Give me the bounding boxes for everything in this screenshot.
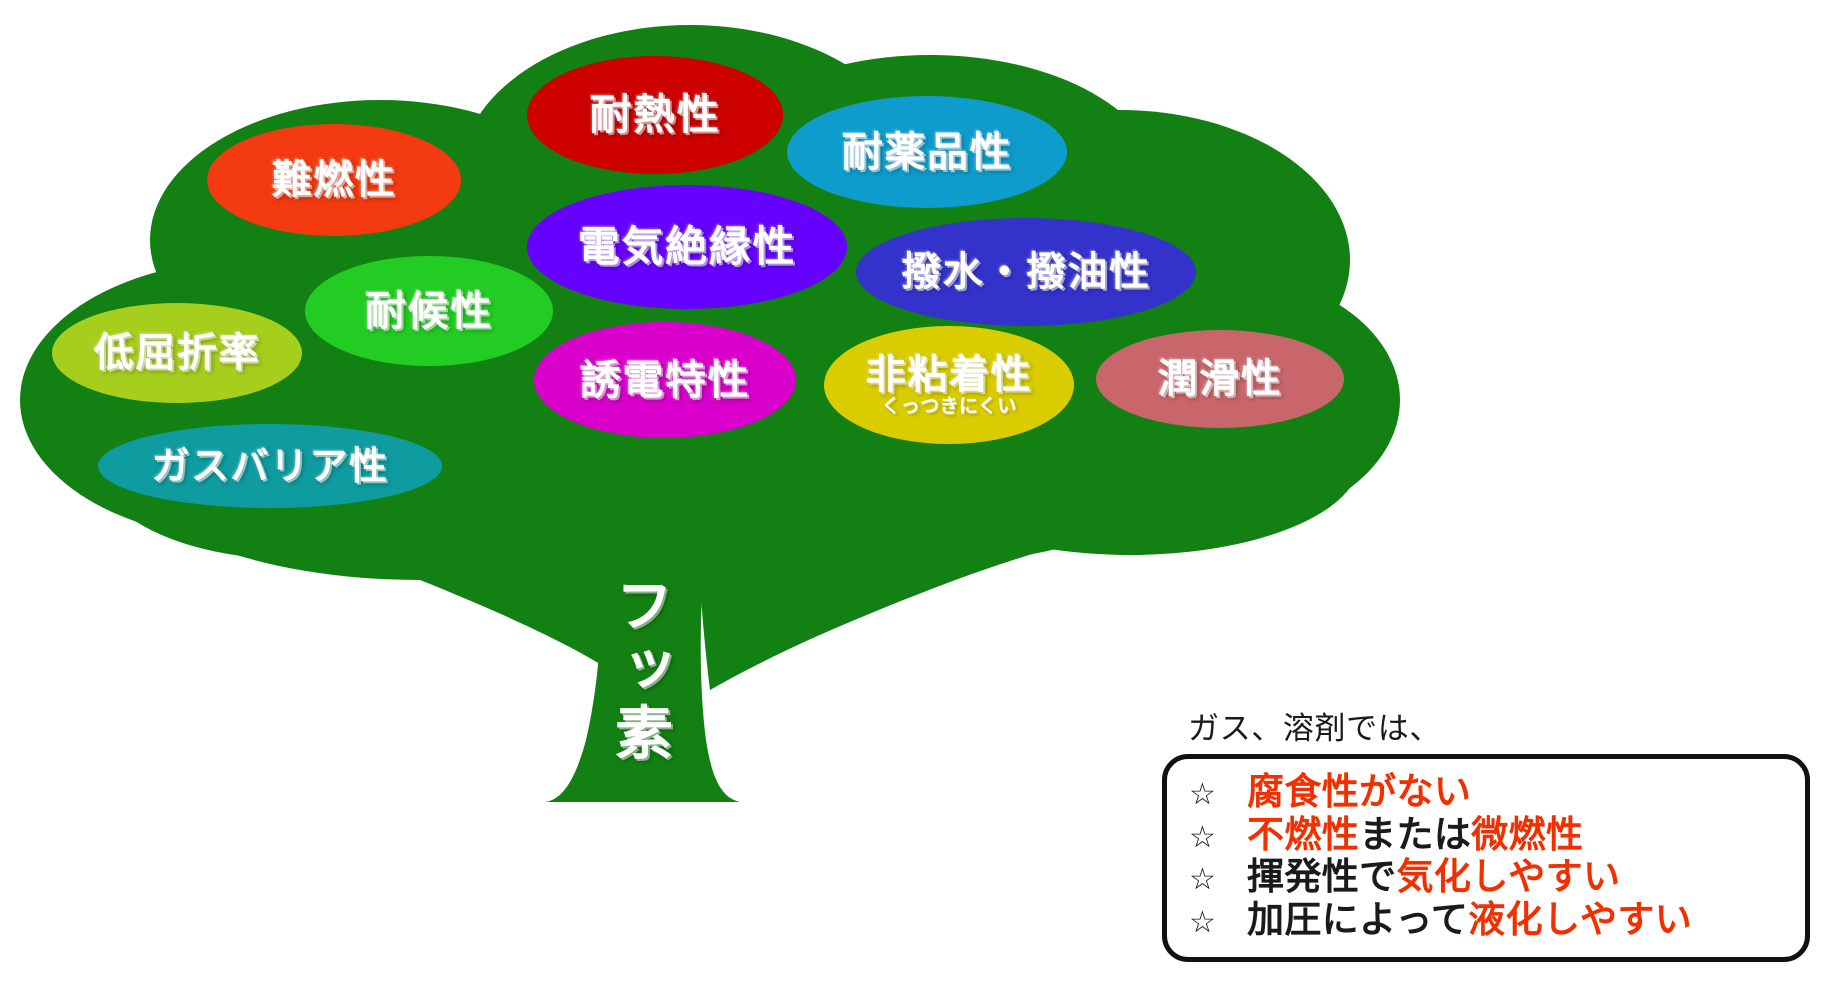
property-oval-tainetsu: 耐熱性 <box>527 56 783 174</box>
callout-rows: ☆腐食性がない☆不燃性または微燃性☆揮発性で気化しやすい☆加圧によって液化しやす… <box>1189 772 1783 941</box>
property-label: 誘電特性 <box>580 360 751 401</box>
fluorine-property-tree-diagram: 難燃性耐熱性耐薬品性電気絶縁性撥水・撥油性耐候性低屈折率誘電特性非粘着性くっつき… <box>0 0 1833 994</box>
callout-normal-text: または <box>1359 813 1471 856</box>
property-oval-yuuden: 誘電特性 <box>534 322 796 438</box>
callout-normal-text: 加圧によって <box>1247 898 1468 941</box>
property-label: 電気絶縁性 <box>578 226 796 268</box>
callout-highlight-text: 気化しやすい <box>1396 855 1620 898</box>
property-oval-nanen: 難燃性 <box>207 124 461 236</box>
callout-item-text: 不燃性または微燃性 <box>1247 815 1583 856</box>
star-icon: ☆ <box>1189 780 1247 810</box>
property-label: 難燃性 <box>272 160 397 200</box>
callout-item: ☆加圧によって液化しやすい <box>1189 900 1783 941</box>
property-label: 耐候性 <box>365 291 493 332</box>
callout-item: ☆腐食性がない <box>1189 772 1783 813</box>
property-oval-gasbarrier: ガスバリア性 <box>98 424 442 508</box>
callout-highlight-text: 液化しやすい <box>1468 898 1692 941</box>
property-oval-hassui: 撥水・撥油性 <box>856 218 1196 326</box>
callout-heading: ガス、溶剤では、 <box>1188 703 1822 748</box>
property-oval-junkatsu: 潤滑性 <box>1096 330 1344 428</box>
callout-highlight-text: 微燃性 <box>1471 813 1583 856</box>
property-oval-hinenchaku: 非粘着性くっつきにくい <box>824 326 1074 444</box>
property-label: 非粘着性 <box>866 355 1032 395</box>
callout-highlight-text: 不燃性 <box>1247 813 1359 856</box>
property-oval-denki: 電気絶縁性 <box>527 185 847 309</box>
callout-highlight-text: 腐食性がない <box>1247 770 1471 813</box>
property-sublabel: くっつきにくい <box>881 397 1016 416</box>
property-label: 低屈折率 <box>94 333 260 373</box>
callout-item: ☆揮発性で気化しやすい <box>1189 857 1783 898</box>
property-label: 潤滑性 <box>1158 359 1283 399</box>
callout-item-text: 腐食性がない <box>1247 772 1471 813</box>
callout-item: ☆不燃性または微燃性 <box>1189 815 1783 856</box>
gas-solvent-callout: ガス、溶剤では、 ☆腐食性がない☆不燃性または微燃性☆揮発性で気化しやすい☆加圧… <box>1162 703 1822 962</box>
star-icon: ☆ <box>1189 823 1247 853</box>
property-label: ガスバリア性 <box>151 447 388 485</box>
property-oval-taiyakuhin: 耐薬品性 <box>787 96 1067 208</box>
star-icon: ☆ <box>1189 865 1247 895</box>
callout-normal-text: 揮発性で <box>1247 855 1396 898</box>
property-oval-taikou: 耐候性 <box>305 256 553 366</box>
property-label: 撥水・撥油性 <box>901 252 1151 292</box>
property-label: 耐薬品性 <box>842 132 1013 173</box>
trunk-label-fluorine: フッ素 <box>610 575 668 766</box>
star-icon: ☆ <box>1189 908 1247 938</box>
property-label: 耐熱性 <box>589 94 720 136</box>
property-oval-teikussetsu: 低屈折率 <box>52 303 302 403</box>
callout-list-box: ☆腐食性がない☆不燃性または微燃性☆揮発性で気化しやすい☆加圧によって液化しやす… <box>1162 754 1810 962</box>
callout-item-text: 揮発性で気化しやすい <box>1247 857 1620 898</box>
callout-item-text: 加圧によって液化しやすい <box>1247 900 1692 941</box>
